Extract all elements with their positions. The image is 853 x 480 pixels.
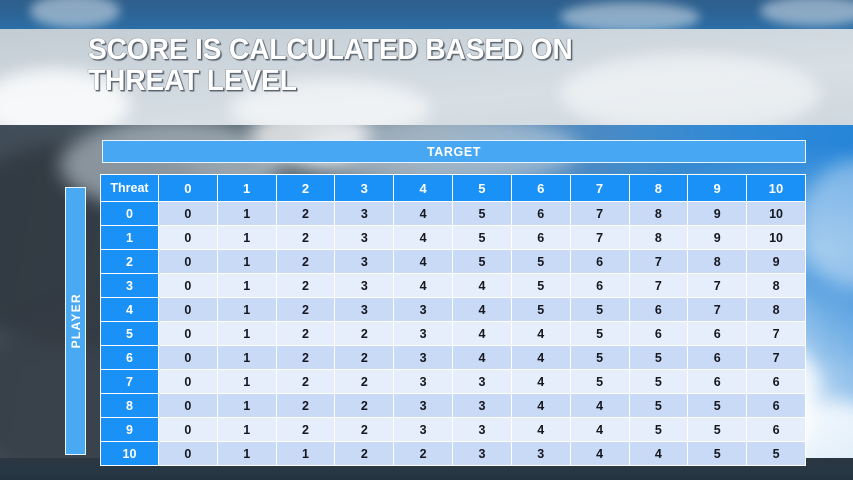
score-cell-9-7: 4: [570, 418, 629, 442]
table-row: 1001122334455: [101, 442, 806, 466]
score-cell-2-7: 6: [570, 250, 629, 274]
score-cell-6-1: 1: [217, 346, 276, 370]
score-cell-2-6: 5: [511, 250, 570, 274]
score-cell-9-9: 5: [688, 418, 747, 442]
score-cell-7-3: 2: [335, 370, 394, 394]
target-axis-text: TARGET: [427, 145, 481, 159]
score-cell-10-2: 1: [276, 442, 335, 466]
score-cell-2-9: 8: [688, 250, 747, 274]
row-header-7: 7: [101, 370, 159, 394]
score-cell-8-6: 4: [511, 394, 570, 418]
score-cell-1-1: 1: [217, 226, 276, 250]
row-header-0: 0: [101, 202, 159, 226]
column-header-7: 7: [570, 175, 629, 202]
score-cell-9-10: 6: [747, 418, 806, 442]
score-cell-3-1: 1: [217, 274, 276, 298]
score-cell-8-1: 1: [217, 394, 276, 418]
score-cell-4-0: 0: [159, 298, 218, 322]
score-cell-7-4: 3: [394, 370, 453, 394]
score-cell-9-8: 5: [629, 418, 688, 442]
score-cell-2-2: 2: [276, 250, 335, 274]
score-cell-4-3: 3: [335, 298, 394, 322]
score-cell-5-10: 7: [747, 322, 806, 346]
column-header-4: 4: [394, 175, 453, 202]
score-cell-9-2: 2: [276, 418, 335, 442]
score-cell-10-6: 3: [511, 442, 570, 466]
score-cell-3-8: 7: [629, 274, 688, 298]
score-cell-7-1: 1: [217, 370, 276, 394]
column-header-6: 6: [511, 175, 570, 202]
score-cell-9-3: 2: [335, 418, 394, 442]
score-cell-1-2: 2: [276, 226, 335, 250]
score-cell-4-9: 7: [688, 298, 747, 322]
score-cell-1-3: 3: [335, 226, 394, 250]
score-cell-0-2: 2: [276, 202, 335, 226]
score-cell-0-4: 4: [394, 202, 453, 226]
table-row: 1012345678910: [101, 226, 806, 250]
score-cell-5-5: 4: [453, 322, 512, 346]
score-cell-5-3: 2: [335, 322, 394, 346]
score-cell-6-2: 2: [276, 346, 335, 370]
score-cell-4-6: 5: [511, 298, 570, 322]
row-header-2: 2: [101, 250, 159, 274]
score-cell-4-5: 4: [453, 298, 512, 322]
table-row: 401233455678: [101, 298, 806, 322]
score-cell-0-1: 1: [217, 202, 276, 226]
table-header: Threat012345678910: [101, 175, 806, 202]
column-header-1: 1: [217, 175, 276, 202]
row-header-4: 4: [101, 298, 159, 322]
score-cell-4-8: 6: [629, 298, 688, 322]
table-header-row: Threat012345678910: [101, 175, 806, 202]
score-cell-1-7: 7: [570, 226, 629, 250]
table-corner-header: Threat: [101, 175, 159, 202]
score-cell-10-1: 1: [217, 442, 276, 466]
page-title: SCORE IS CALCULATED BASED ON THREAT LEVE…: [88, 34, 690, 96]
score-cell-6-6: 4: [511, 346, 570, 370]
player-axis-label: PLAYER: [65, 187, 86, 455]
score-cell-6-10: 7: [747, 346, 806, 370]
score-cell-6-9: 6: [688, 346, 747, 370]
player-axis-text: PLAYER: [69, 293, 83, 348]
table-row: 901223344556: [101, 418, 806, 442]
table-row: 501223445667: [101, 322, 806, 346]
score-cell-8-8: 5: [629, 394, 688, 418]
score-cell-3-3: 3: [335, 274, 394, 298]
score-cell-8-3: 2: [335, 394, 394, 418]
column-header-2: 2: [276, 175, 335, 202]
table-row: 301234456778: [101, 274, 806, 298]
score-cell-3-6: 5: [511, 274, 570, 298]
score-cell-9-1: 1: [217, 418, 276, 442]
score-cell-7-2: 2: [276, 370, 335, 394]
score-cell-1-10: 10: [747, 226, 806, 250]
score-cell-0-0: 0: [159, 202, 218, 226]
score-cell-10-5: 3: [453, 442, 512, 466]
score-cell-8-0: 0: [159, 394, 218, 418]
column-header-0: 0: [159, 175, 218, 202]
score-cell-5-9: 6: [688, 322, 747, 346]
score-cell-7-8: 5: [629, 370, 688, 394]
score-cell-4-2: 2: [276, 298, 335, 322]
score-cell-6-4: 3: [394, 346, 453, 370]
score-cell-5-2: 2: [276, 322, 335, 346]
score-cell-7-7: 5: [570, 370, 629, 394]
score-cell-4-10: 8: [747, 298, 806, 322]
score-cell-10-7: 4: [570, 442, 629, 466]
score-cell-5-6: 4: [511, 322, 570, 346]
score-cell-7-9: 6: [688, 370, 747, 394]
score-cell-7-10: 6: [747, 370, 806, 394]
table-row: 0012345678910: [101, 202, 806, 226]
score-cell-0-9: 9: [688, 202, 747, 226]
score-cell-1-8: 8: [629, 226, 688, 250]
score-cell-3-4: 4: [394, 274, 453, 298]
column-header-10: 10: [747, 175, 806, 202]
score-cell-9-6: 4: [511, 418, 570, 442]
score-cell-1-6: 6: [511, 226, 570, 250]
row-header-5: 5: [101, 322, 159, 346]
score-cell-5-4: 3: [394, 322, 453, 346]
score-cell-1-4: 4: [394, 226, 453, 250]
table-body: 0012345678910101234567891020123455678930…: [101, 202, 806, 466]
table-row: 201234556789: [101, 250, 806, 274]
table-row: 801223344556: [101, 394, 806, 418]
score-cell-3-5: 4: [453, 274, 512, 298]
score-cell-6-0: 0: [159, 346, 218, 370]
column-header-9: 9: [688, 175, 747, 202]
score-cell-10-0: 0: [159, 442, 218, 466]
row-header-1: 1: [101, 226, 159, 250]
score-cell-2-1: 1: [217, 250, 276, 274]
row-header-9: 9: [101, 418, 159, 442]
score-matrix-table: Threat012345678910 001234567891010123456…: [100, 174, 806, 466]
score-cell-10-4: 2: [394, 442, 453, 466]
score-cell-10-9: 5: [688, 442, 747, 466]
score-cell-5-7: 5: [570, 322, 629, 346]
score-cell-3-10: 8: [747, 274, 806, 298]
score-cell-10-8: 4: [629, 442, 688, 466]
score-cell-3-9: 7: [688, 274, 747, 298]
score-cell-9-0: 0: [159, 418, 218, 442]
score-cell-10-10: 5: [747, 442, 806, 466]
score-cell-2-3: 3: [335, 250, 394, 274]
score-cell-2-10: 9: [747, 250, 806, 274]
score-cell-9-5: 3: [453, 418, 512, 442]
score-cell-2-8: 7: [629, 250, 688, 274]
score-cell-8-7: 4: [570, 394, 629, 418]
score-cell-1-0: 0: [159, 226, 218, 250]
score-cell-10-3: 2: [335, 442, 394, 466]
score-cell-1-9: 9: [688, 226, 747, 250]
score-cell-5-0: 0: [159, 322, 218, 346]
score-cell-7-0: 0: [159, 370, 218, 394]
score-cell-5-8: 6: [629, 322, 688, 346]
score-cell-3-7: 6: [570, 274, 629, 298]
table-row: 701223345566: [101, 370, 806, 394]
score-cell-0-6: 6: [511, 202, 570, 226]
score-cell-1-5: 5: [453, 226, 512, 250]
score-cell-0-8: 8: [629, 202, 688, 226]
score-cell-6-7: 5: [570, 346, 629, 370]
score-cell-0-10: 10: [747, 202, 806, 226]
score-cell-3-2: 2: [276, 274, 335, 298]
table-row: 601223445567: [101, 346, 806, 370]
top-sky-strip: [0, 0, 853, 29]
column-header-3: 3: [335, 175, 394, 202]
score-cell-6-8: 5: [629, 346, 688, 370]
score-cell-6-5: 4: [453, 346, 512, 370]
row-header-10: 10: [101, 442, 159, 466]
score-cell-8-4: 3: [394, 394, 453, 418]
score-cell-9-4: 3: [394, 418, 453, 442]
score-cell-4-7: 5: [570, 298, 629, 322]
score-cell-0-5: 5: [453, 202, 512, 226]
column-header-8: 8: [629, 175, 688, 202]
score-cell-0-3: 3: [335, 202, 394, 226]
score-cell-6-3: 2: [335, 346, 394, 370]
column-header-5: 5: [453, 175, 512, 202]
score-cell-8-5: 3: [453, 394, 512, 418]
row-header-6: 6: [101, 346, 159, 370]
score-cell-7-5: 3: [453, 370, 512, 394]
row-header-3: 3: [101, 274, 159, 298]
score-cell-3-0: 0: [159, 274, 218, 298]
score-cell-0-7: 7: [570, 202, 629, 226]
score-cell-8-10: 6: [747, 394, 806, 418]
row-header-8: 8: [101, 394, 159, 418]
score-cell-8-9: 5: [688, 394, 747, 418]
score-cell-2-4: 4: [394, 250, 453, 274]
score-cell-8-2: 2: [276, 394, 335, 418]
score-cell-7-6: 4: [511, 370, 570, 394]
target-axis-label: TARGET: [102, 140, 806, 163]
score-cell-4-1: 1: [217, 298, 276, 322]
score-cell-2-5: 5: [453, 250, 512, 274]
score-cell-2-0: 0: [159, 250, 218, 274]
score-cell-4-4: 3: [394, 298, 453, 322]
score-cell-5-1: 1: [217, 322, 276, 346]
